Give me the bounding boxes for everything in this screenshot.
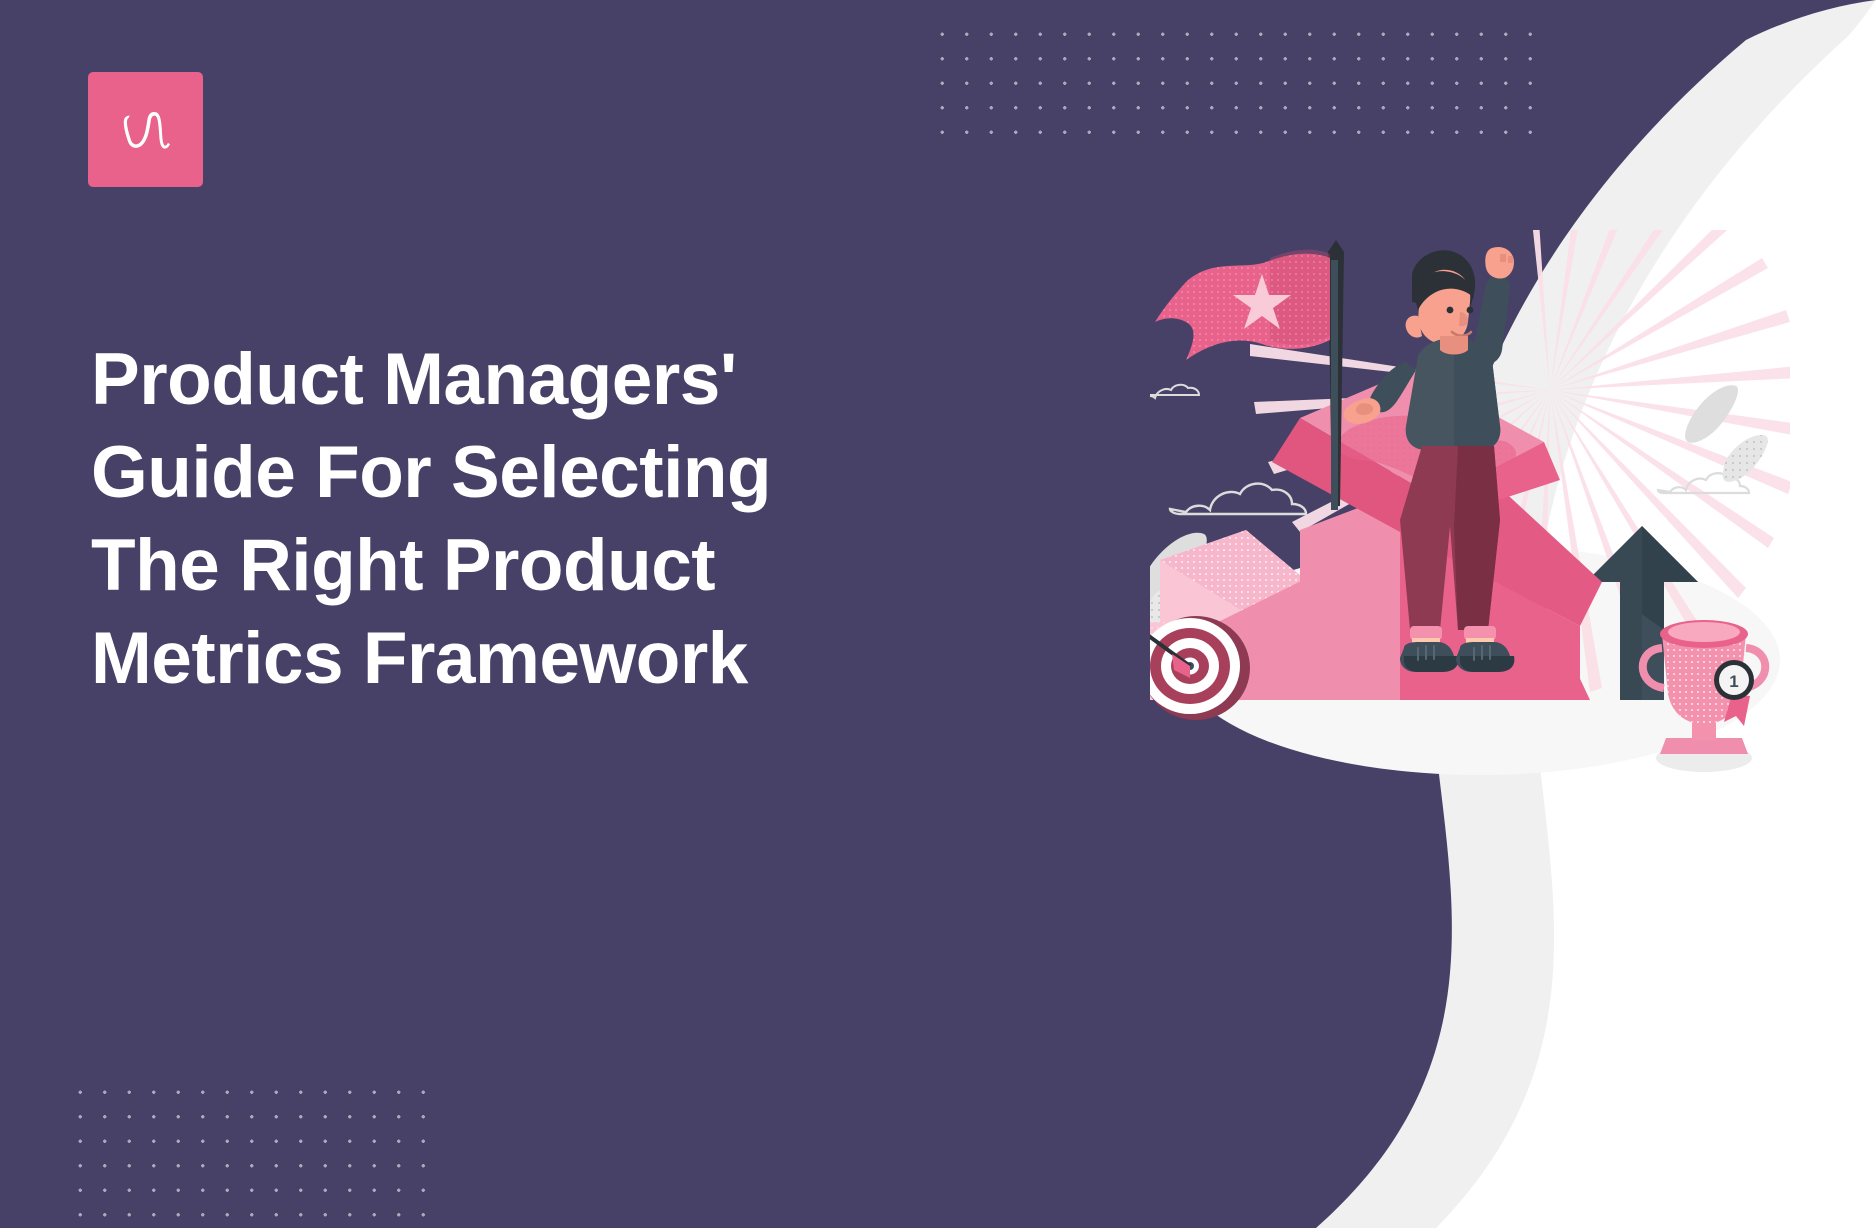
success-achievement-illustration: 1 [1150, 230, 1790, 790]
page-title: Product Managers' Guide For Selecting Th… [91, 333, 851, 705]
leaf-decoration [1685, 385, 1768, 482]
cloud-icon [1150, 385, 1199, 400]
userpilot-logo[interactable] [88, 72, 203, 187]
slide-canvas: Product Managers' Guide For Selecting Th… [0, 0, 1876, 1228]
logo-letter-u-icon [111, 95, 181, 165]
svg-text:1: 1 [1729, 672, 1738, 691]
cloud-icon [1170, 484, 1306, 514]
dot-grid-bottom [68, 1080, 428, 1228]
